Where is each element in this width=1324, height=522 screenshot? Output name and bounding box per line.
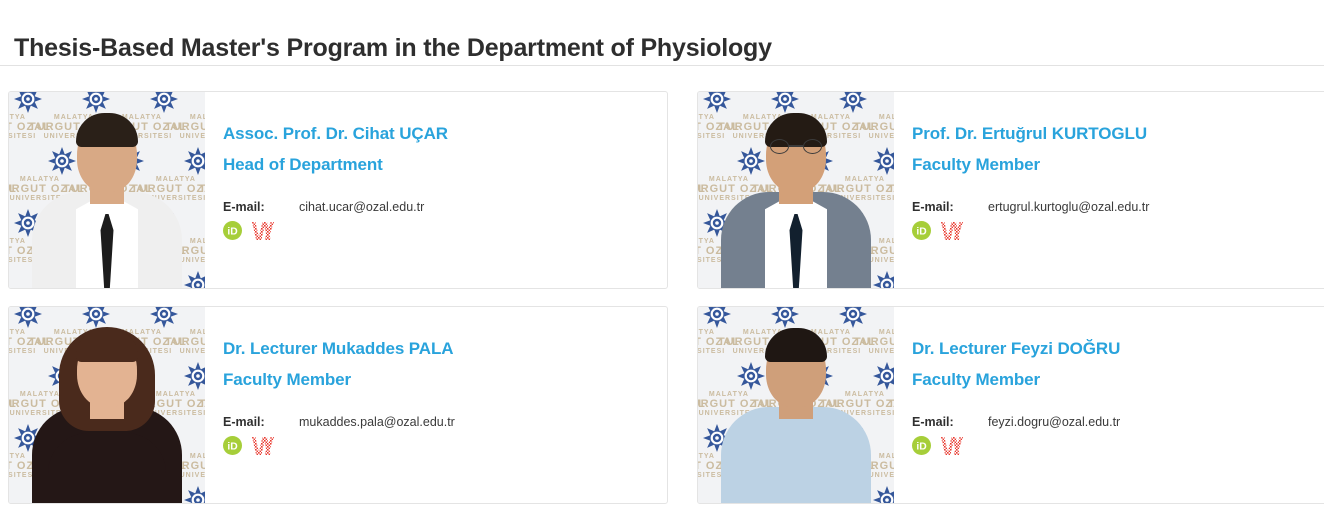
profile-links: iD [912,436,1324,455]
yok-akademik-icon[interactable] [941,437,963,455]
faculty-role: Faculty Member [912,149,1324,180]
faculty-name: Dr. Lecturer Feyzi DOĞRU [912,333,1324,364]
faculty-card[interactable]: MALATYATURGUT OZALUNIVERSITESIMALATYATUR… [697,306,1324,504]
portrait-shoulders-front [48,433,166,503]
faculty-card[interactable]: MALATYATURGUT OZALUNIVERSITESIMALATYATUR… [8,306,668,504]
faculty-card[interactable]: MALATYATURGUT OZALUNIVERSITESIMALATYATUR… [8,91,668,289]
email-row: E-mail: mukaddes.pala@ozal.edu.tr [223,415,667,429]
portrait-hairline [765,328,827,362]
yok-akademik-icon[interactable] [941,222,963,240]
email-label: E-mail: [912,415,988,429]
faculty-name: Dr. Lecturer Mukaddes PALA [223,333,667,364]
faculty-role: Faculty Member [223,364,667,395]
faculty-info: Assoc. Prof. Dr. Cihat UÇAR Head of Depa… [205,92,667,288]
faculty-role: Head of Department [223,149,667,180]
person-portrait-illustration [9,307,205,503]
profile-links: iD [223,221,667,240]
faculty-name: Prof. Dr. Ertuğrul KURTOGLU [912,118,1324,149]
portrait-glasses [770,139,822,154]
page-header: Thesis-Based Master's Program in the Dep… [0,0,1324,66]
faculty-photo: MALATYATURGUT OZALUNIVERSITESIMALATYATUR… [9,307,205,503]
orcid-icon[interactable]: iD [912,221,931,240]
email-row: E-mail: feyzi.dogru@ozal.edu.tr [912,415,1324,429]
email-value[interactable]: ertugrul.kurtoglu@ozal.edu.tr [988,200,1149,214]
person-portrait-illustration [9,92,205,288]
svg-text:iD: iD [916,226,926,237]
email-value[interactable]: mukaddes.pala@ozal.edu.tr [299,415,455,429]
email-label: E-mail: [223,200,299,214]
faculty-card-row: MALATYATURGUT OZALUNIVERSITESIMALATYATUR… [0,306,1324,504]
email-label: E-mail: [912,200,988,214]
faculty-info: Dr. Lecturer Feyzi DOĞRU Faculty Member … [894,307,1324,503]
portrait-hairline [76,113,138,147]
faculty-photo: MALATYATURGUT OZALUNIVERSITESIMALATYATUR… [9,92,205,288]
orcid-icon[interactable]: iD [223,221,242,240]
faculty-photo: MALATYATURGUT OZALUNIVERSITESIMALATYATUR… [698,307,894,503]
faculty-card[interactable]: MALATYATURGUT OZALUNIVERSITESIMALATYATUR… [697,91,1324,289]
email-value[interactable]: cihat.ucar@ozal.edu.tr [299,200,424,214]
faculty-info: Dr. Lecturer Mukaddes PALA Faculty Membe… [205,307,667,503]
orcid-icon[interactable]: iD [223,436,242,455]
email-value[interactable]: feyzi.dogru@ozal.edu.tr [988,415,1120,429]
page-title: Thesis-Based Master's Program in the Dep… [14,31,1324,65]
portrait-shirt [765,407,827,503]
faculty-photo: MALATYATURGUT OZALUNIVERSITESIMALATYATUR… [698,92,894,288]
profile-links: iD [223,436,667,455]
svg-text:iD: iD [227,441,237,452]
faculty-info: Prof. Dr. Ertuğrul KURTOGLU Faculty Memb… [894,92,1324,288]
person-portrait-illustration [698,92,894,288]
svg-text:iD: iD [227,226,237,237]
yok-akademik-icon[interactable] [252,222,274,240]
email-row: E-mail: ertugrul.kurtoglu@ozal.edu.tr [912,200,1324,214]
orcid-icon[interactable]: iD [912,436,931,455]
faculty-card-row: MALATYATURGUT OZALUNIVERSITESIMALATYATUR… [0,91,1324,289]
person-portrait-illustration [698,307,894,503]
faculty-role: Faculty Member [912,364,1324,395]
faculty-name: Assoc. Prof. Dr. Cihat UÇAR [223,118,667,149]
faculty-card-grid: MALATYATURGUT OZALUNIVERSITESIMALATYATUR… [0,66,1324,504]
email-label: E-mail: [223,415,299,429]
profile-links: iD [912,221,1324,240]
email-row: E-mail: cihat.ucar@ozal.edu.tr [223,200,667,214]
yok-akademik-icon[interactable] [252,437,274,455]
svg-text:iD: iD [916,441,926,452]
